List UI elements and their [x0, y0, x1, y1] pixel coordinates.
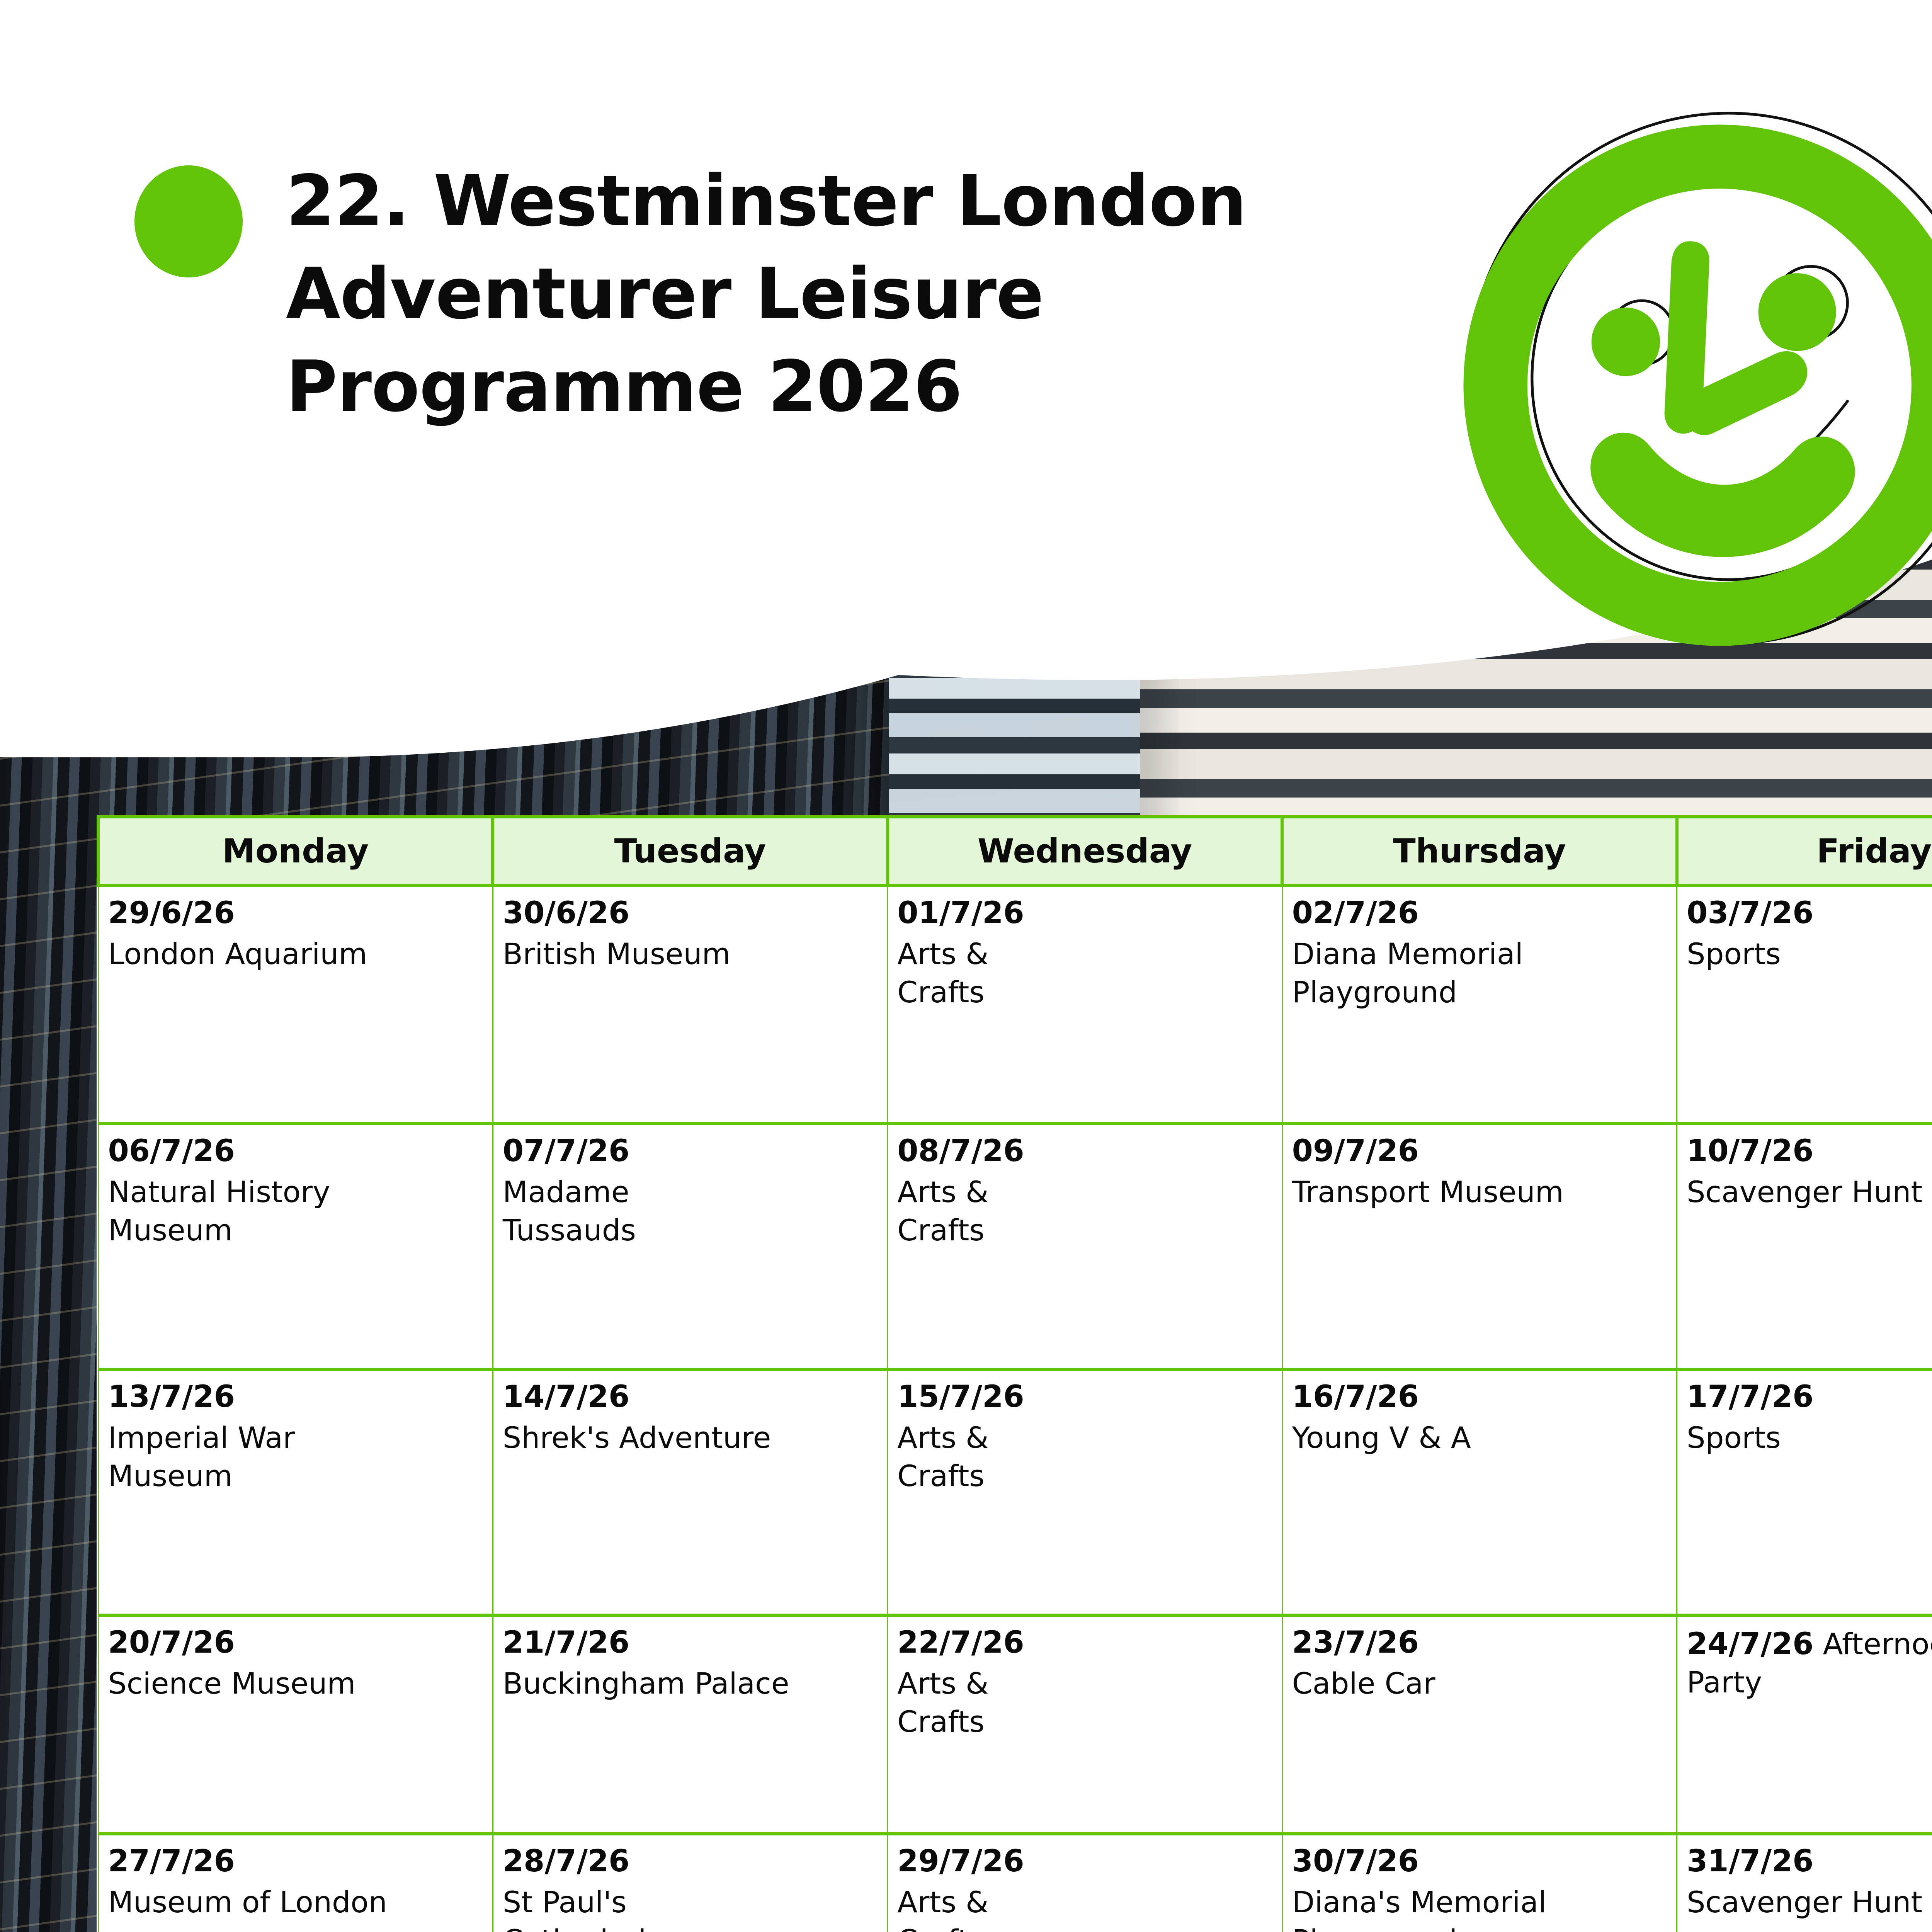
day-cell-activity: Scavenger Hunt: [1687, 1173, 1932, 1211]
day-cell-date: 20/7/26: [108, 1625, 483, 1660]
day-cell-date: 30/7/26: [1292, 1844, 1667, 1879]
day-cell-date: 03/7/26: [1687, 896, 1932, 930]
day-cell: 08/7/26Arts &Crafts: [888, 1124, 1282, 1369]
day-cell-date: 09/7/26: [1292, 1134, 1667, 1168]
day-cell: 14/7/26Shrek's Adventure: [493, 1369, 887, 1615]
day-cell: 07/7/26MadameTussauds: [493, 1124, 887, 1369]
table-row: 29/6/26London Aquarium 30/6/26British Mu…: [98, 886, 1932, 1124]
day-cell: 30/6/26British Museum: [493, 886, 887, 1124]
day-cell-date: 08/7/26: [897, 1134, 1272, 1168]
day-cell: 10/7/26Scavenger Hunt: [1677, 1124, 1932, 1369]
day-cell: 28/7/26St Paul'sCathedral: [493, 1834, 887, 1932]
leisure-programme-table: Monday Tuesday Wednesday Thursday Friday…: [97, 815, 1932, 1932]
day-cell-activity: Cable Car: [1292, 1665, 1667, 1703]
page-title-line-2: Adventurer Leisure: [286, 247, 1468, 340]
day-cell: 01/7/26Arts &Crafts: [888, 886, 1282, 1124]
column-header-label: Wednesday: [978, 832, 1192, 871]
day-cell-activity: Shrek's Adventure: [503, 1419, 878, 1457]
day-cell-date: 02/7/26: [1292, 896, 1667, 930]
day-cell: 02/7/26Diana MemorialPlayground: [1282, 886, 1677, 1124]
day-cell-date: 31/7/26: [1687, 1844, 1932, 1879]
column-header-wednesday: Wednesday: [888, 817, 1282, 886]
table-row: 06/7/26Natural HistoryMuseum 07/7/26Mada…: [98, 1124, 1932, 1369]
day-cell: 21/7/26Buckingham Palace: [493, 1615, 887, 1834]
day-cell: 24/7/26 Afternoon Tea Party: [1677, 1615, 1932, 1834]
column-header-monday: Monday: [98, 817, 493, 886]
day-cell-activity: Transport Museum: [1292, 1173, 1667, 1211]
column-header-label: Friday: [1816, 832, 1932, 871]
day-cell-activity: Museum of London: [108, 1883, 483, 1922]
day-cell: 17/7/26Sports: [1677, 1369, 1932, 1615]
table-row: 27/7/26Museum of London 28/7/26St Paul's…: [98, 1834, 1932, 1932]
day-cell-activity: Sports: [1687, 935, 1932, 973]
day-cell: 13/7/26Imperial WarMuseum: [98, 1369, 493, 1615]
day-cell: 15/7/26Arts &Crafts: [888, 1369, 1282, 1615]
day-cell-date: 01/7/26: [897, 896, 1272, 930]
day-cell-date: 10/7/26: [1687, 1134, 1932, 1168]
day-cell-activity: Diana MemorialPlayground: [1292, 935, 1667, 1012]
day-cell-date: 07/7/26: [503, 1134, 878, 1168]
day-cell-activity: Arts &Crafts: [897, 1665, 1272, 1741]
day-cell-activity: Buckingham Palace: [503, 1665, 878, 1703]
day-cell-activity: Natural HistoryMuseum: [108, 1173, 483, 1250]
day-cell: 22/7/26Arts &Crafts: [888, 1615, 1282, 1834]
day-cell: 23/7/26Cable Car: [1282, 1615, 1677, 1834]
day-cell-activity: Scavenger Hunt: [1687, 1883, 1932, 1922]
column-header-thursday: Thursday: [1282, 817, 1677, 886]
day-cell-activity: Imperial WarMuseum: [108, 1419, 483, 1495]
day-cell-activity: Arts &Crafts: [897, 1173, 1272, 1250]
day-cell: 03/7/26Sports: [1677, 886, 1932, 1124]
day-cell-date: 14/7/26: [503, 1379, 878, 1414]
column-header-tuesday: Tuesday: [493, 817, 887, 886]
day-cell-date: 21/7/26: [503, 1625, 878, 1660]
day-cell-date: 24/7/26: [1687, 1627, 1813, 1662]
day-cell-activity: Arts &Crafts: [897, 1883, 1272, 1932]
table-row: 13/7/26Imperial WarMuseum 14/7/26Shrek's…: [98, 1369, 1932, 1615]
day-cell-activity: Diana's MemorialPlayground: [1292, 1883, 1667, 1932]
day-cell-date: 16/7/26: [1292, 1379, 1667, 1414]
column-header-friday: Friday: [1677, 817, 1932, 886]
column-header-label: Tuesday: [614, 832, 766, 871]
day-cell-activity: Arts &Crafts: [897, 1419, 1272, 1495]
day-cell-date: 17/7/26: [1687, 1379, 1932, 1414]
day-cell-activity: British Museum: [503, 935, 878, 973]
day-cell: 27/7/26Museum of London: [98, 1834, 493, 1932]
page-title-line-3: Programme 2026: [286, 340, 1468, 433]
green-circle-bullet-icon: [134, 165, 243, 277]
day-cell: 06/7/26Natural HistoryMuseum: [98, 1124, 493, 1369]
page-title-line-1: 22. Westminster London: [286, 155, 1468, 247]
table-header-row: Monday Tuesday Wednesday Thursday Friday: [98, 817, 1932, 886]
day-cell-date: 15/7/26: [897, 1379, 1272, 1414]
day-cell-date: 28/7/26: [503, 1844, 878, 1879]
day-cell-activity: Arts &Crafts: [897, 935, 1272, 1012]
table-row: 20/7/26Science Museum 21/7/26Buckingham …: [98, 1615, 1932, 1834]
day-cell-date: 13/7/26: [108, 1379, 483, 1414]
day-cell-activity: St Paul'sCathedral: [503, 1883, 878, 1932]
column-header-label: Thursday: [1393, 832, 1566, 871]
table-body: 29/6/26London Aquarium 30/6/26British Mu…: [98, 886, 1932, 1932]
day-cell: 16/7/26Young V & A: [1282, 1369, 1677, 1615]
day-cell-date: 29/7/26: [897, 1844, 1272, 1879]
day-cell: 29/6/26London Aquarium: [98, 886, 493, 1124]
day-cell: 31/7/26Scavenger Hunt: [1677, 1834, 1932, 1932]
column-header-label: Monday: [222, 832, 369, 871]
day-cell-date: 23/7/26: [1292, 1625, 1667, 1660]
day-cell: 20/7/26Science Museum: [98, 1615, 493, 1834]
day-cell: 29/7/26Arts &Crafts: [888, 1834, 1282, 1932]
day-cell-date: 06/7/26: [108, 1134, 483, 1168]
day-cell-activity: Sports: [1687, 1419, 1932, 1457]
day-cell-activity: Science Museum: [108, 1665, 483, 1703]
day-cell-date: 27/7/26: [108, 1844, 483, 1879]
day-cell-activity: MadameTussauds: [503, 1173, 878, 1250]
smiley-face-logo-icon: [1445, 104, 1932, 668]
day-cell: 30/7/26Diana's MemorialPlayground: [1282, 1834, 1677, 1932]
day-cell: 09/7/26Transport Museum: [1282, 1124, 1677, 1369]
day-cell-date: 30/6/26: [503, 896, 878, 930]
day-cell-date: 22/7/26: [897, 1625, 1272, 1660]
day-cell-activity: London Aquarium: [108, 935, 483, 973]
day-cell-activity: Young V & A: [1292, 1419, 1667, 1457]
day-cell-date: 29/6/26: [108, 896, 483, 930]
page-title: 22. Westminster London Adventurer Leisur…: [286, 155, 1468, 433]
